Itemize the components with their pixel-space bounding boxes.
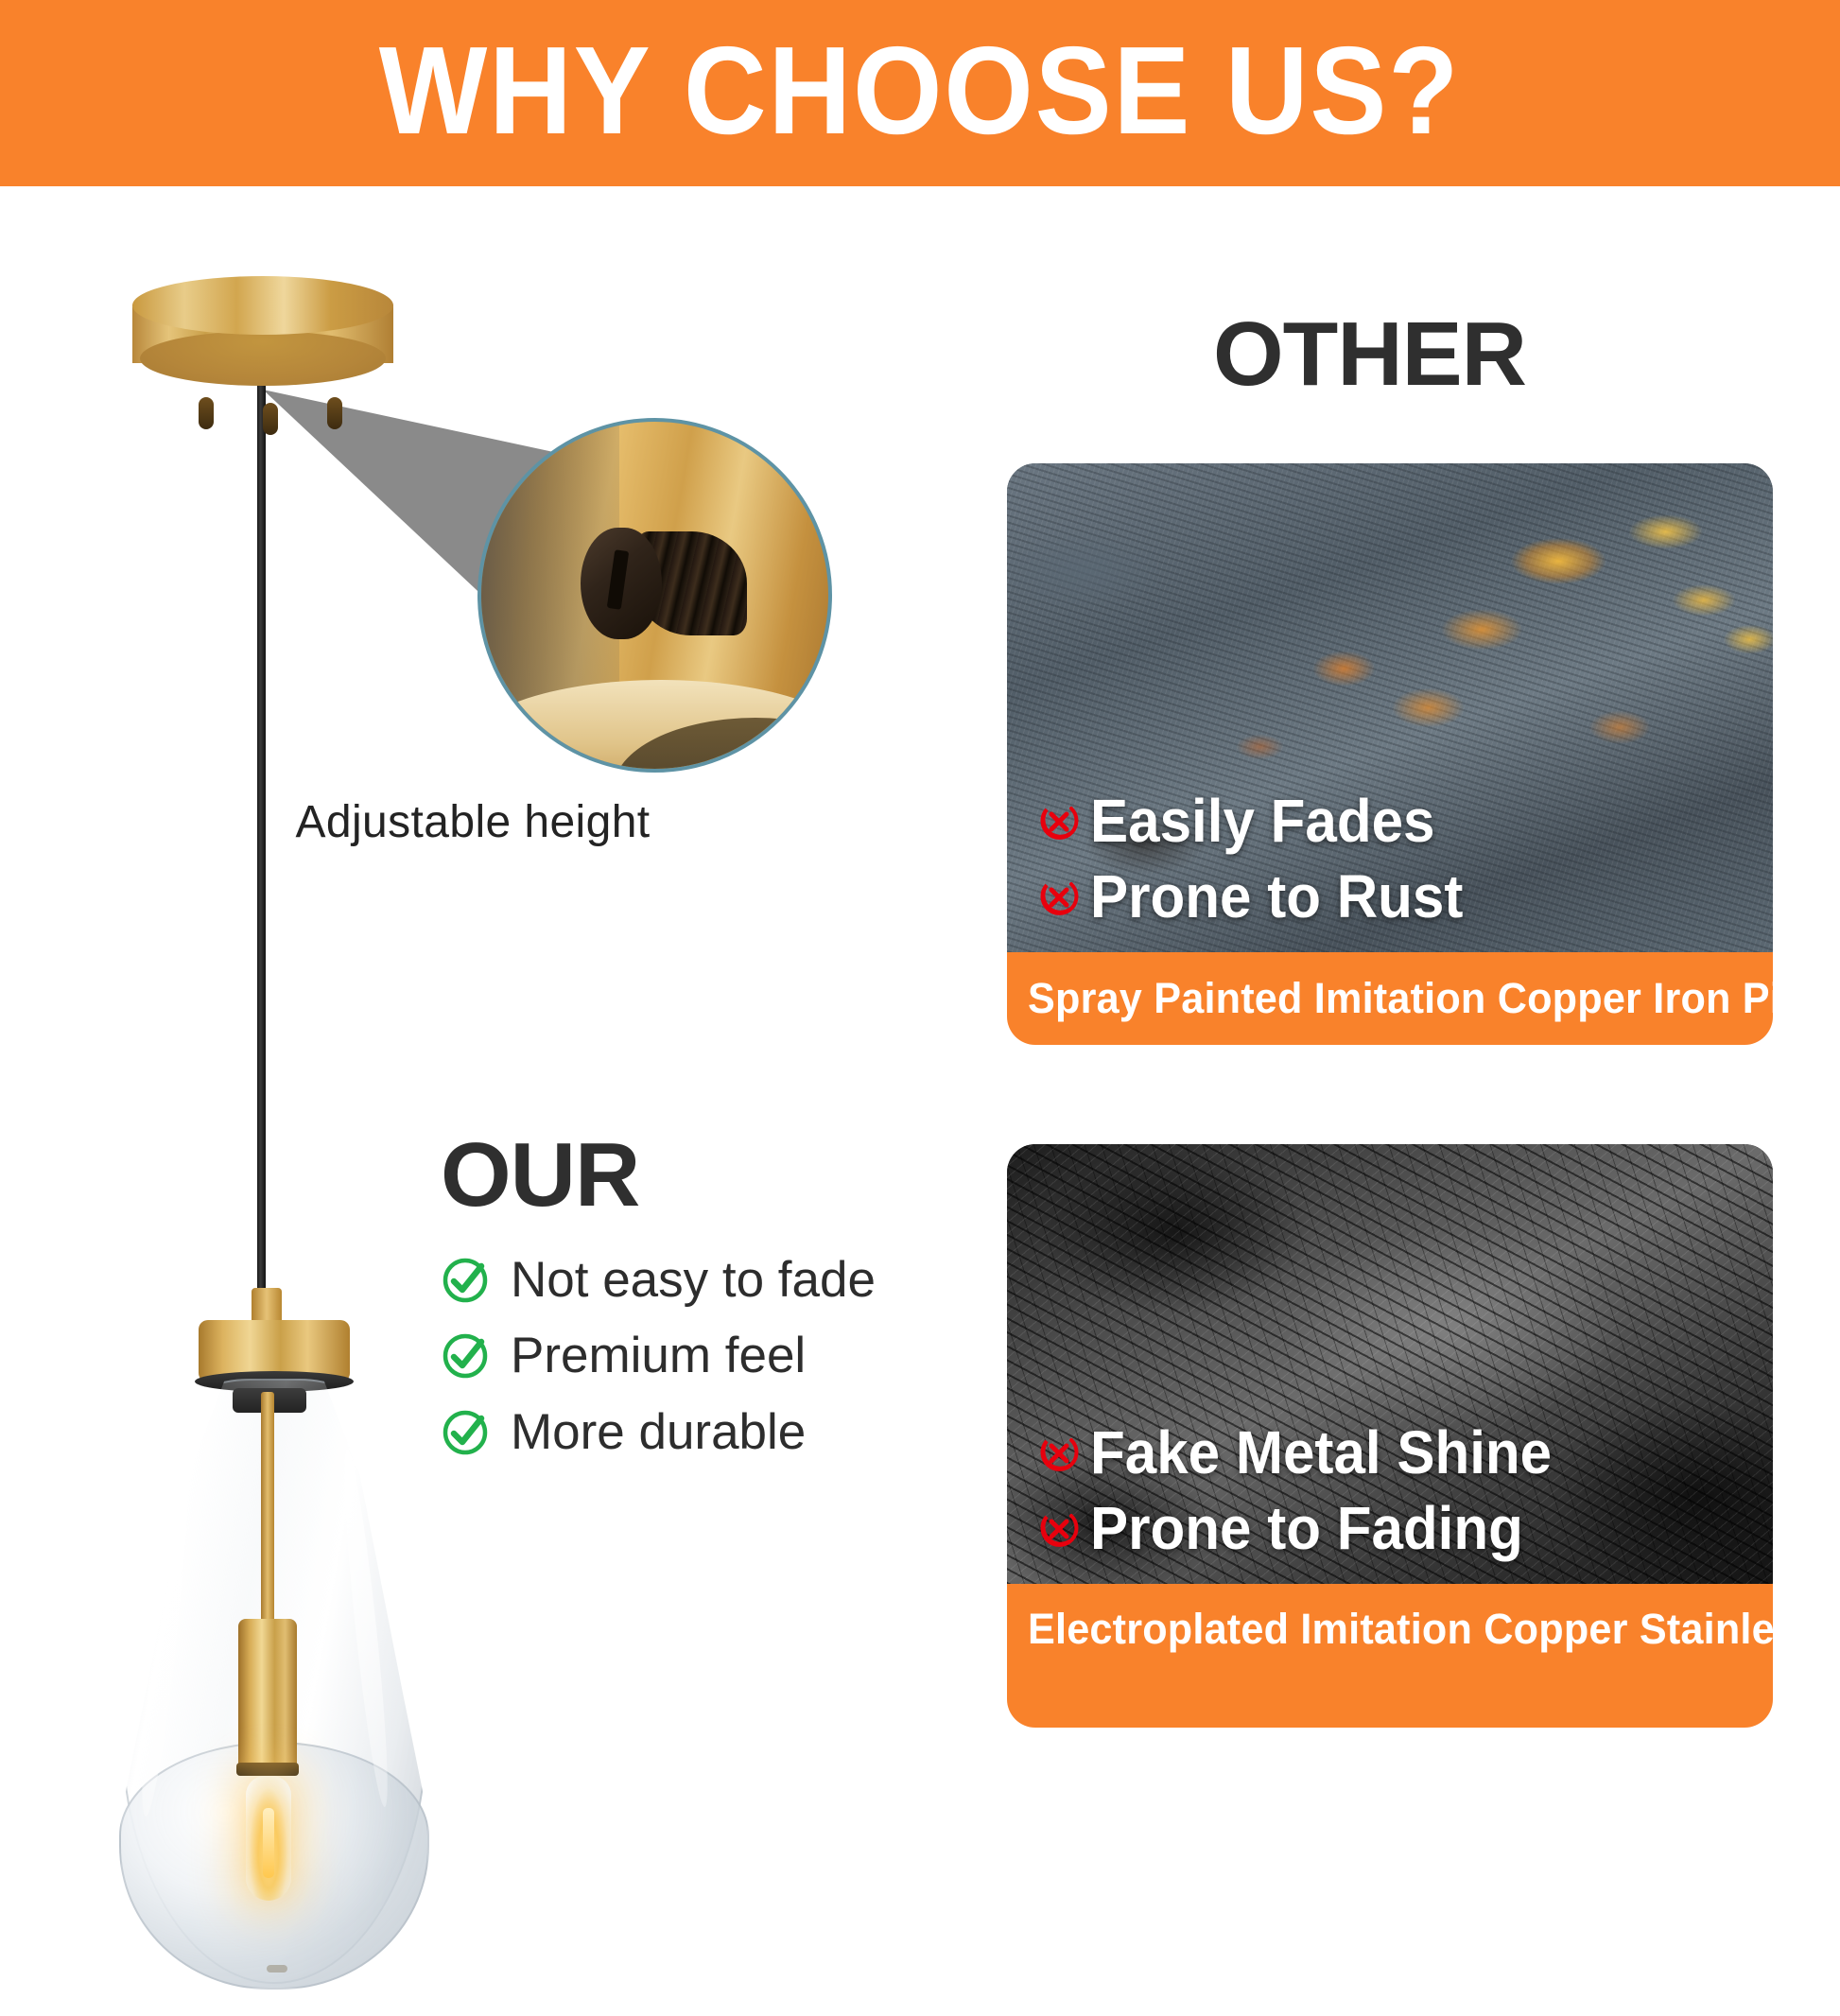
list-item: Premium feel (441, 1329, 932, 1383)
card-bullet-list: Easily Fades Prone to Rust (1033, 790, 1758, 930)
list-item-label: Not easy to fade (511, 1253, 876, 1308)
canopy-top-disc (132, 276, 393, 335)
list-item: Prone to Fading (1033, 1497, 1758, 1561)
magnifier-circle (477, 418, 832, 773)
card-bullet-list: Fake Metal Shine Prone to Fading (1033, 1421, 1758, 1561)
header-banner: WHY CHOOSE US? (0, 0, 1840, 186)
other-card-rust: Easily Fades Prone to Rust Spray Painted… (1007, 463, 1773, 1045)
check-circle-icon (441, 1408, 490, 1457)
list-item-label: Fake Metal Shine (1090, 1421, 1552, 1486)
hanging-cord (257, 380, 266, 1316)
card-caption: Spray Painted Imitation Copper Iron Piec… (1028, 974, 1773, 1023)
card-photo: Fake Metal Shine Prone to Fading (1007, 1144, 1773, 1584)
list-item: More durable (441, 1405, 932, 1460)
list-item-label: Premium feel (511, 1329, 806, 1383)
our-section: OUR Not easy to fade Premium feel (441, 1130, 932, 1481)
brass-socket (238, 1619, 297, 1770)
glass-pendant-shade (95, 1297, 454, 2016)
list-item-label: Easily Fades (1090, 790, 1435, 854)
adjustable-height-label: Adjustable height (0, 796, 946, 848)
list-item: Not easy to fade (441, 1253, 932, 1308)
product-illustration: Adjustable height (0, 186, 946, 1840)
list-item: Prone to Rust (1033, 865, 1758, 930)
bulb-filament (263, 1808, 274, 1878)
card-caption-bar: Spray Painted Imitation Copper Iron Piec… (1007, 952, 1773, 1045)
screw-slot (607, 549, 629, 609)
card-caption: Electroplated Imitation Copper Stainless… (1028, 1605, 1773, 1654)
x-circle-icon (1033, 1503, 1085, 1555)
other-card-steel: Fake Metal Shine Prone to Fading Electro… (1007, 1144, 1773, 1728)
check-circle-icon (441, 1256, 490, 1305)
list-item: Fake Metal Shine (1033, 1421, 1758, 1486)
list-item-label: Prone to Rust (1090, 865, 1463, 930)
brass-stem (261, 1392, 274, 1628)
other-title: OTHER (1213, 309, 1526, 400)
card-photo: Easily Fades Prone to Rust (1007, 463, 1773, 952)
shade-bottom-mark (267, 1965, 287, 1973)
list-item-label: Prone to Fading (1090, 1497, 1523, 1561)
list-item: Easily Fades (1033, 790, 1758, 854)
x-circle-icon (1033, 872, 1085, 923)
card-caption-bar: Electroplated Imitation Copper Stainless… (1007, 1584, 1773, 1728)
screw-head (581, 528, 662, 639)
ceiling-canopy (132, 276, 393, 394)
our-title: OUR (441, 1130, 932, 1221)
canopy-hole (199, 397, 214, 429)
canopy-hole (327, 397, 342, 429)
canopy-underside (140, 331, 386, 386)
page-title: WHY CHOOSE US? (379, 28, 1461, 153)
x-circle-icon (1033, 796, 1085, 847)
our-benefit-list: Not easy to fade Premium feel More durab… (441, 1253, 932, 1460)
set-screw-icon (581, 524, 751, 647)
list-item-label: More durable (511, 1405, 806, 1460)
socket-ring (236, 1763, 299, 1776)
x-circle-icon (1033, 1428, 1085, 1479)
check-circle-icon (441, 1331, 490, 1381)
canopy-hole (263, 403, 278, 435)
